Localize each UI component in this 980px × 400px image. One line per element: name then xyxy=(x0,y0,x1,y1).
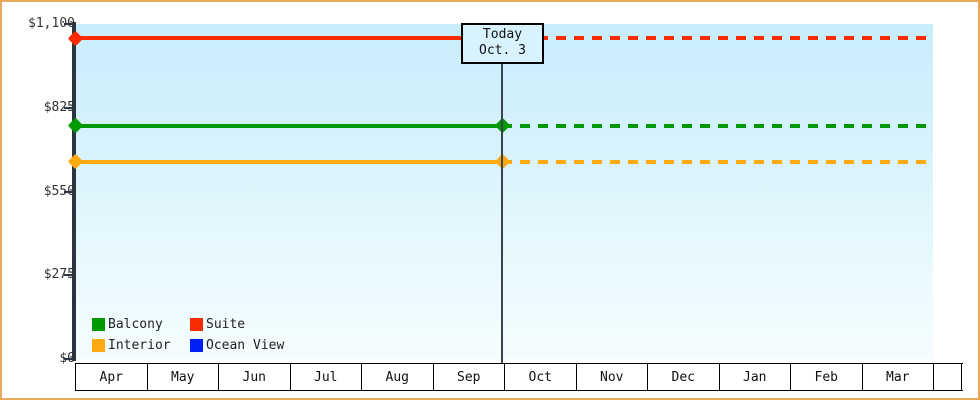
legend-label: Balcony xyxy=(108,317,163,332)
legend-swatch-icon xyxy=(190,339,203,352)
y-axis-tick-mark xyxy=(64,358,73,360)
y-axis-tick-mark xyxy=(64,191,73,193)
plot-area xyxy=(75,24,933,359)
x-axis-month-nov: Nov xyxy=(577,364,649,390)
today-label-line1: Today xyxy=(469,27,536,43)
legend-item-suite[interactable]: Suite xyxy=(190,314,284,335)
x-axis-month-dec: Dec xyxy=(648,364,720,390)
x-axis-month-feb: Feb xyxy=(791,364,863,390)
series-line-solid-interior xyxy=(75,160,502,164)
x-axis-month-jun: Jun xyxy=(219,364,291,390)
legend-label: Suite xyxy=(206,317,245,332)
today-label-box: Today Oct. 3 xyxy=(461,23,544,64)
price-history-chart: $0$275$550$825$1,100 Today Oct. 3 AprMay… xyxy=(0,0,980,400)
y-axis-tick-mark xyxy=(64,274,73,276)
legend-swatch-icon xyxy=(92,318,105,331)
x-axis-month-jul: Jul xyxy=(291,364,363,390)
x-axis-month-may: May xyxy=(148,364,220,390)
series-line-dashed-suite xyxy=(502,36,933,40)
legend-item-ocean-view[interactable]: Ocean View xyxy=(190,335,284,356)
y-axis-tick-mark xyxy=(64,23,73,25)
y-axis-tick-mark xyxy=(64,107,73,109)
x-axis-month-oct: Oct xyxy=(505,364,577,390)
today-vertical-line xyxy=(501,24,503,366)
today-label-line2: Oct. 3 xyxy=(469,43,536,59)
legend-item-balcony[interactable]: Balcony xyxy=(92,314,190,335)
series-line-dashed-interior xyxy=(502,160,933,164)
x-axis-month-empty xyxy=(934,364,962,390)
legend-swatch-icon xyxy=(92,339,105,352)
series-line-solid-suite xyxy=(75,36,502,40)
series-line-solid-balcony xyxy=(75,124,502,128)
chart-legend: BalconySuiteInteriorOcean View xyxy=(92,314,284,356)
legend-item-interior[interactable]: Interior xyxy=(92,335,190,356)
x-axis-month-jan: Jan xyxy=(720,364,792,390)
x-axis-month-aug: Aug xyxy=(362,364,434,390)
x-axis-month-mar: Mar xyxy=(863,364,935,390)
x-axis-month-apr: Apr xyxy=(76,364,148,390)
legend-label: Ocean View xyxy=(206,338,284,353)
legend-label: Interior xyxy=(108,338,171,353)
x-axis-month-sep: Sep xyxy=(434,364,506,390)
x-axis-month-row: AprMayJunJulAugSepOctNovDecJanFebMar xyxy=(75,363,963,391)
legend-swatch-icon xyxy=(190,318,203,331)
series-line-dashed-balcony xyxy=(502,124,933,128)
